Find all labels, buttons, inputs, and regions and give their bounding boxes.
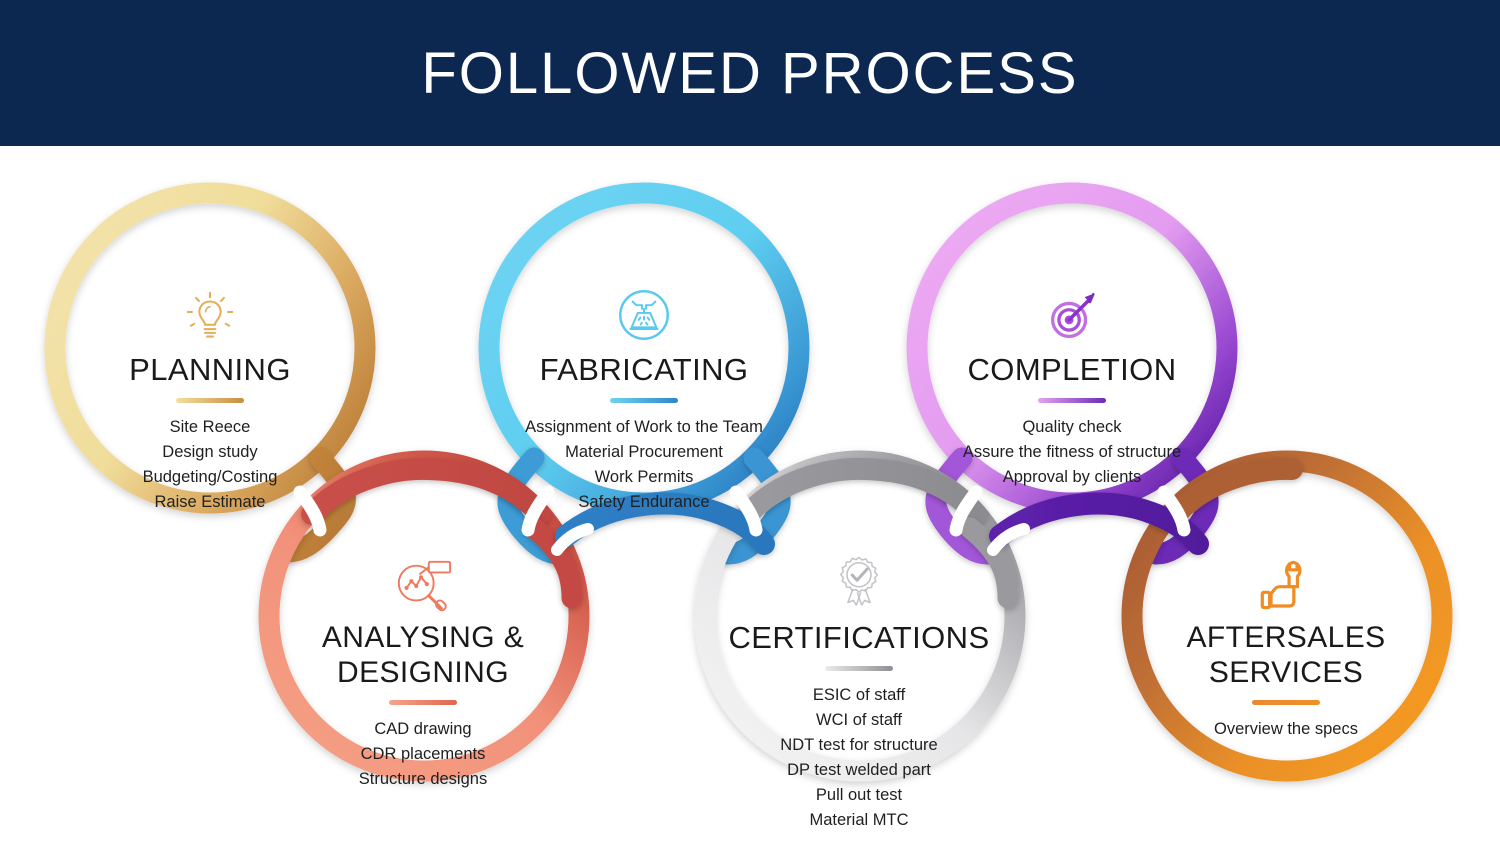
header-band: FOLLOWED PROCESS xyxy=(0,0,1500,146)
process-diagram: PLANNING Site Reece Design study Budgeti… xyxy=(0,146,1500,844)
rings-canvas xyxy=(0,146,1500,844)
connector-completion-aftersales xyxy=(1000,504,1198,544)
page-title: FOLLOWED PROCESS xyxy=(421,40,1078,107)
